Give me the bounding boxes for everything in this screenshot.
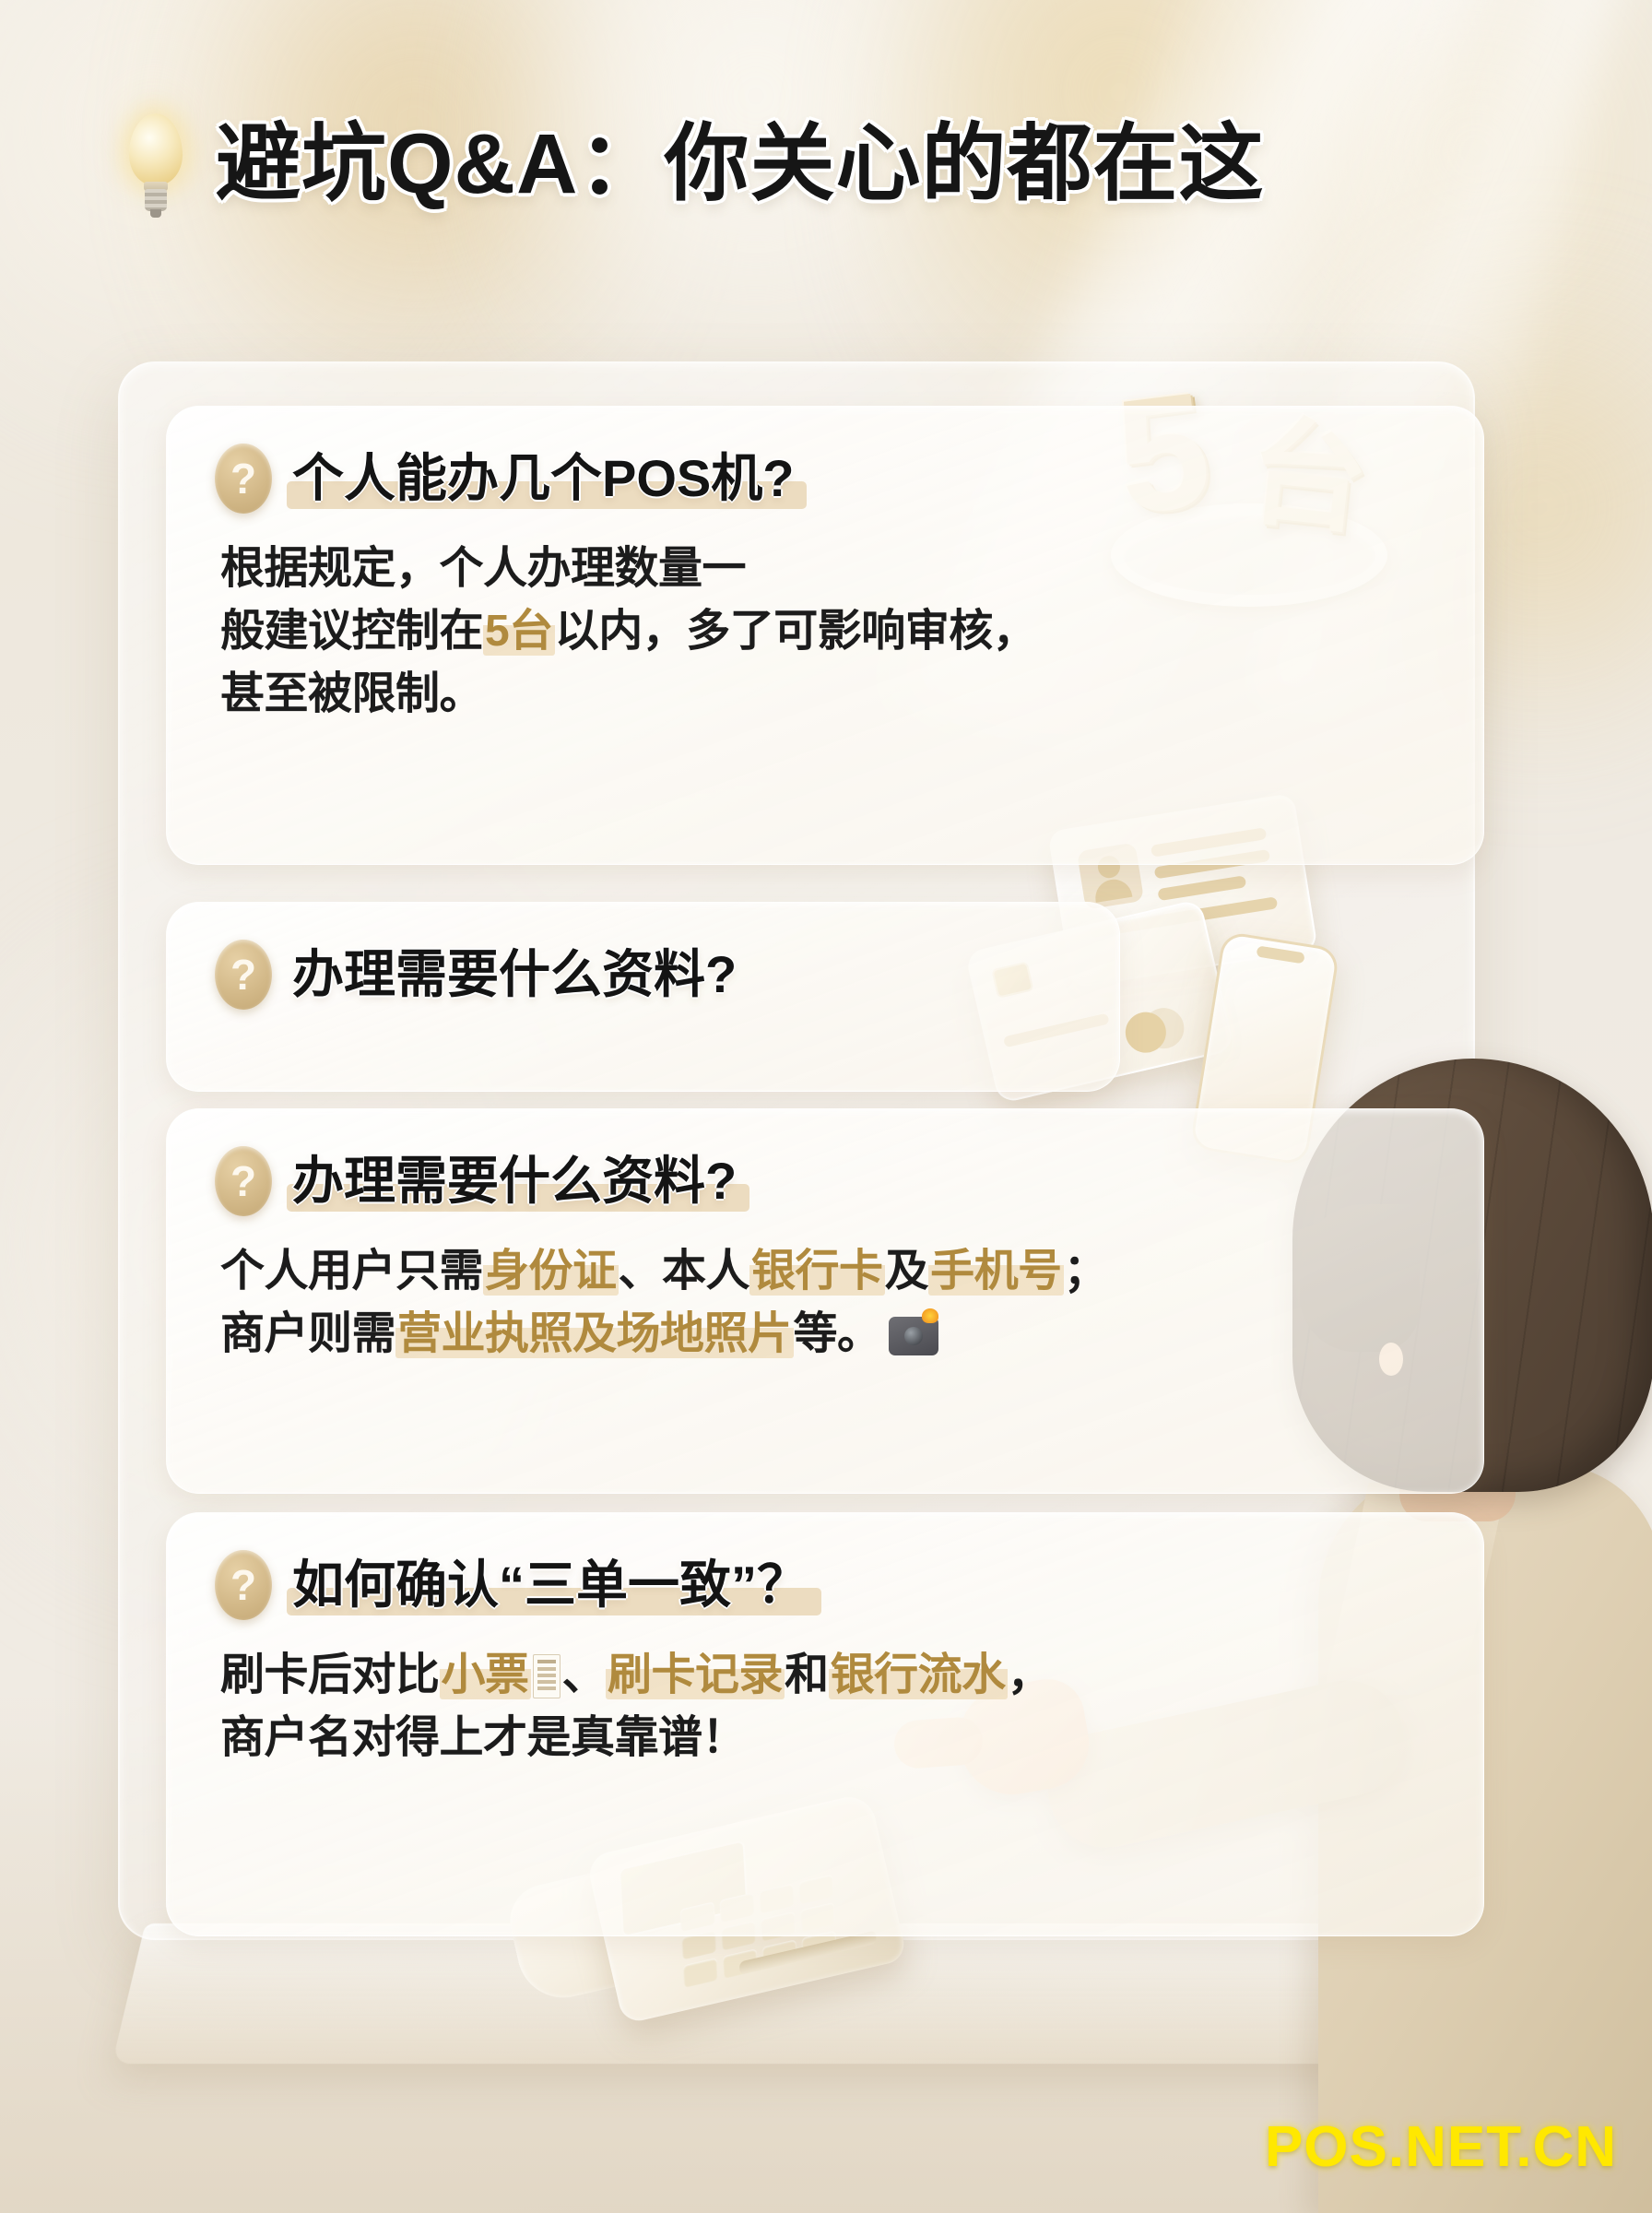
question-badge-icon: ? xyxy=(215,444,272,514)
answer-segment: 商户名对得上才是真靠谱！ xyxy=(220,1713,746,1762)
answer-segment: 以内，多了可影响审核， xyxy=(555,607,1037,656)
page-header: 避坑Q&A：你关心的都在这 xyxy=(122,100,1320,229)
answer-segment: 商户则需 xyxy=(220,1309,395,1358)
answer-segment: 、本人 xyxy=(619,1247,750,1296)
answer-segment: 甚至被限制。 xyxy=(220,669,483,718)
lightbulb-icon xyxy=(122,110,190,219)
qa-card[interactable]: ? 办理需要什么资料? 个人用户只需身份证、本人银行卡及手机号； 商户则需营业执… xyxy=(166,1108,1484,1494)
question-badge-icon: ? xyxy=(215,1146,272,1216)
question-label: 办理需要什么资料? xyxy=(292,1152,737,1210)
page-title: 避坑Q&A：你关心的都在这 xyxy=(216,122,1264,207)
question-badge-icon: ? xyxy=(215,1550,272,1620)
answer-segment: 根据规定，个人办理数量一 xyxy=(220,544,746,593)
question-badge-icon: ? xyxy=(215,940,272,1010)
question-text: 如何确认“三单一致”？ xyxy=(292,1556,808,1615)
question-row: ? 个人能办几个POS机? xyxy=(167,407,1483,514)
answer-segment: 刷卡后对比 xyxy=(220,1651,440,1699)
question-row: ? 如何确认“三单一致”？ xyxy=(167,1513,1483,1620)
question-row: ? 办理需要什么资料? xyxy=(167,903,1119,1010)
question-row: ? 办理需要什么资料? xyxy=(167,1109,1483,1216)
answer-keyword: 银行卡 xyxy=(749,1247,885,1296)
answer-segment: 等。 xyxy=(794,1309,881,1358)
answer-segment: ； xyxy=(1064,1247,1108,1296)
question-label: 如何确认“三单一致”？ xyxy=(292,1556,808,1614)
question-text: 办理需要什么资料? xyxy=(292,946,737,1004)
qa-card[interactable]: ? 如何确认“三单一致”？ 刷卡后对比小票、刷卡记录和银行流水， 商户名对得上才… xyxy=(166,1512,1484,1936)
answer-keyword: 5台 xyxy=(483,607,555,656)
answer-keyword: 营业执照及场地照片 xyxy=(395,1309,794,1358)
question-label: 个人能办几个POS机? xyxy=(292,449,794,507)
question-text: 个人能办几个POS机? xyxy=(292,450,794,508)
answer-segment: 及 xyxy=(885,1247,929,1296)
answer-keyword: 身份证 xyxy=(483,1247,619,1296)
answer-text: 根据规定，个人办理数量一 般建议控制在5台以内，多了可影响审核， 甚至被限制。 xyxy=(167,514,1483,726)
answer-keyword: 小票 xyxy=(440,1651,531,1699)
answer-segment: 、 xyxy=(562,1651,607,1699)
answer-segment: 和 xyxy=(785,1651,829,1699)
question-label: 办理需要什么资料? xyxy=(292,945,737,1003)
qa-card[interactable]: ? 个人能办几个POS机? 根据规定，个人办理数量一 般建议控制在5台以内，多了… xyxy=(166,406,1484,865)
answer-segment: 个人用户只需 xyxy=(220,1247,483,1296)
answer-keyword: 手机号 xyxy=(928,1247,1064,1296)
camera-icon xyxy=(889,1317,938,1355)
answer-segment: ， xyxy=(1008,1651,1052,1699)
qa-card[interactable]: ? 办理需要什么资料? xyxy=(166,902,1120,1092)
answer-keyword: 刷卡记录 xyxy=(606,1651,785,1699)
question-text: 办理需要什么资料? xyxy=(292,1153,737,1211)
receipt-icon xyxy=(533,1654,560,1698)
answer-segment: 般建议控制在 xyxy=(220,607,483,656)
answer-keyword: 银行流水 xyxy=(829,1651,1008,1699)
answer-text: 刷卡后对比小票、刷卡记录和银行流水， 商户名对得上才是真靠谱！ xyxy=(167,1620,1483,1769)
watermark: POS.NET.CN xyxy=(1265,2114,1617,2180)
answer-text: 个人用户只需身份证、本人银行卡及手机号； 商户则需营业执照及场地照片等。 xyxy=(167,1216,1483,1366)
